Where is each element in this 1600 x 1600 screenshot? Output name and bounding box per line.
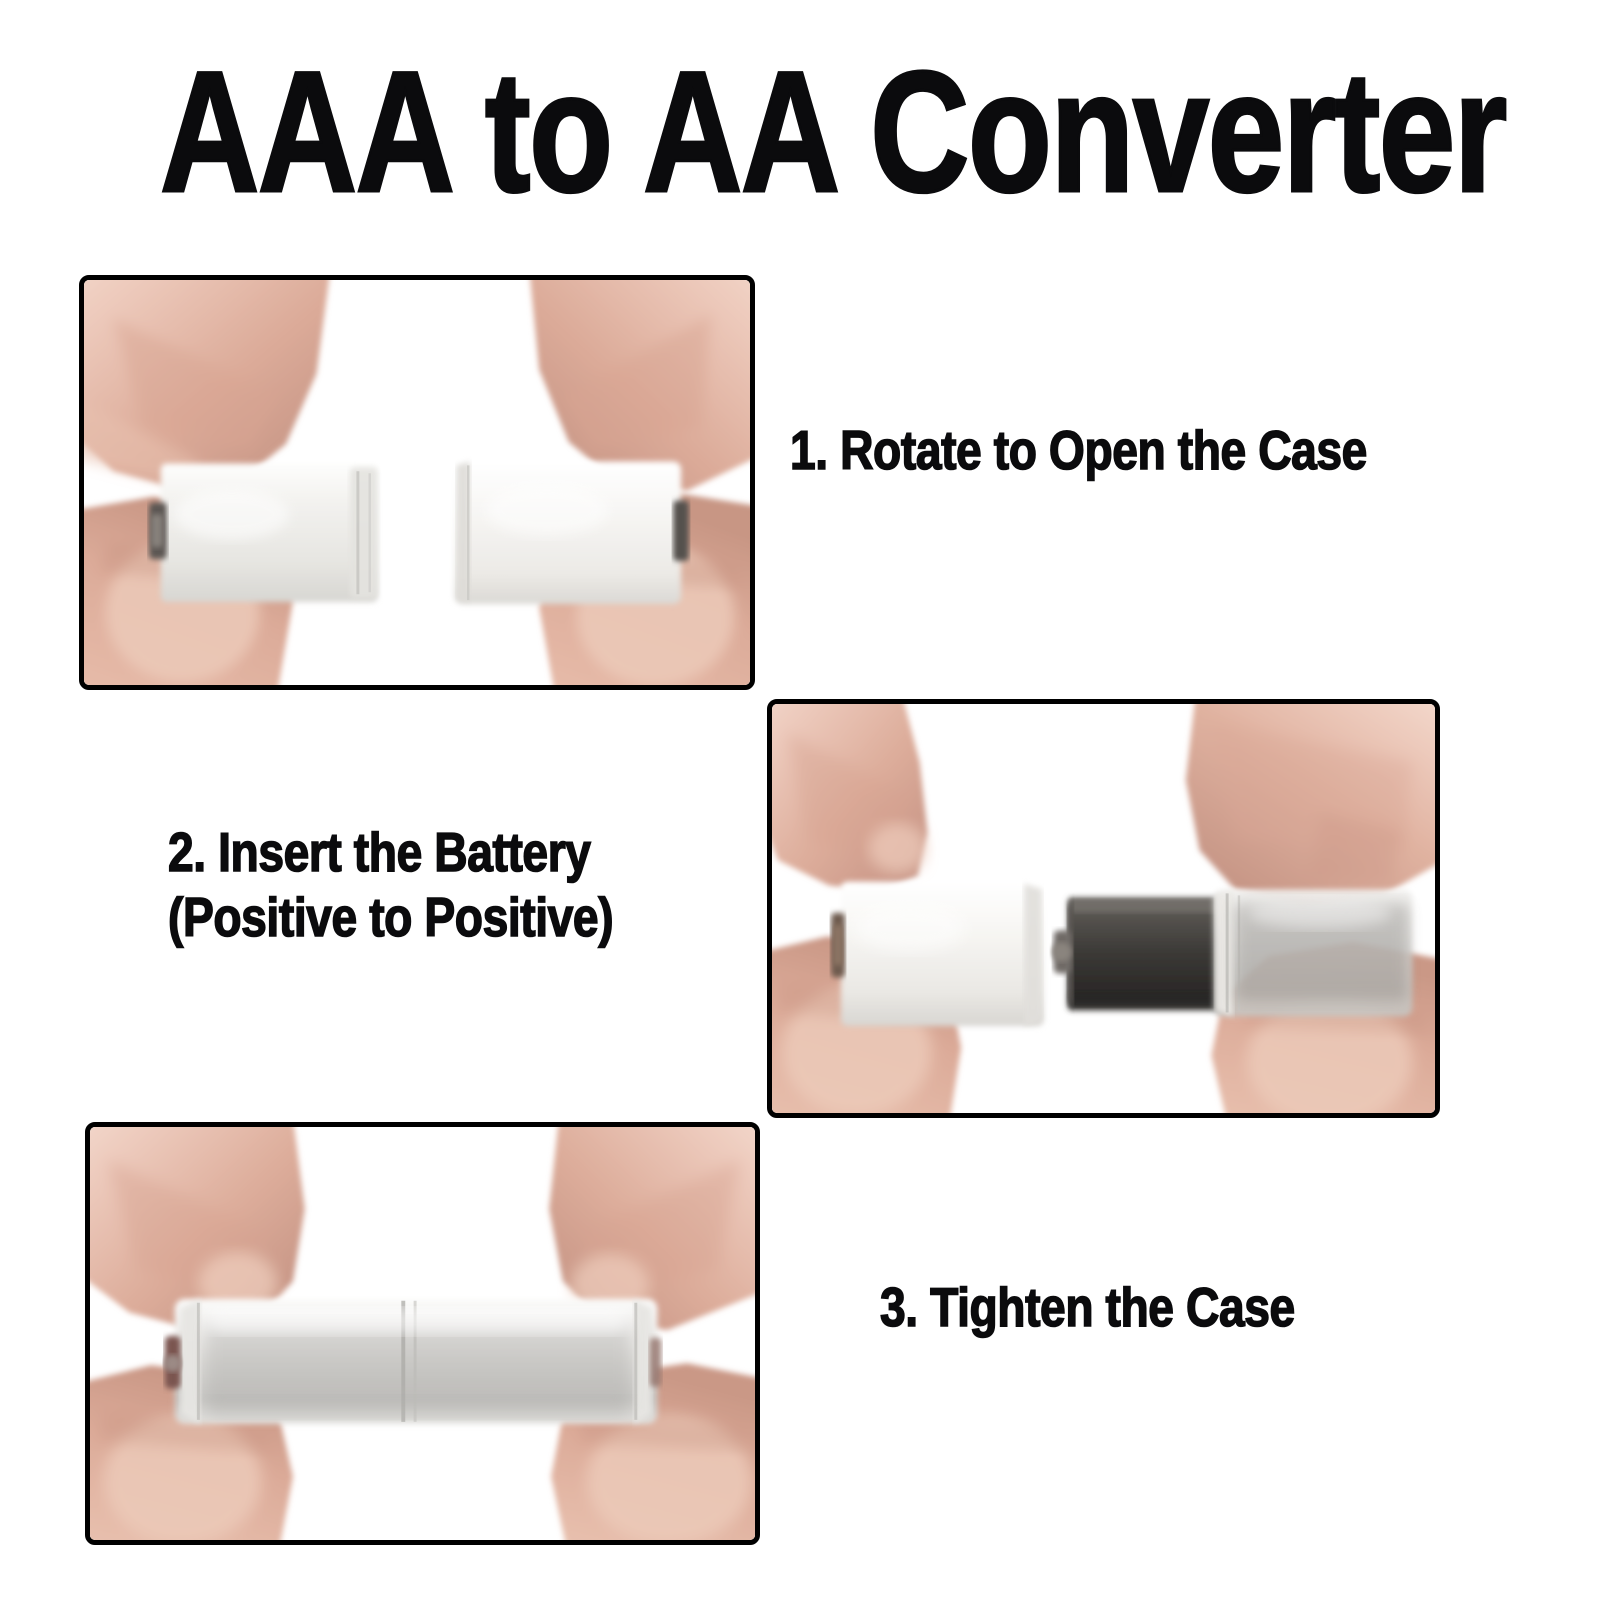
left-index-finger xyxy=(772,704,928,891)
case-body-half xyxy=(1213,889,1412,1016)
case-cap-half xyxy=(831,882,1044,1026)
assembled-converter xyxy=(164,1299,662,1424)
step-2-caption-line2: (Positive to Positive) xyxy=(168,885,613,950)
aaa-battery xyxy=(1052,897,1225,1010)
step-2-photo xyxy=(767,699,1440,1118)
case-body-half xyxy=(454,462,688,604)
step-3-photo-svg xyxy=(90,1127,755,1540)
step-1-caption: 1. Rotate to Open the Case xyxy=(790,418,1367,483)
step-2-photo-svg xyxy=(772,704,1435,1113)
step-1-photo xyxy=(79,275,755,690)
step-2-caption-line1: 2. Insert the Battery xyxy=(168,821,591,883)
step-1-photo-svg xyxy=(84,280,750,685)
infographic-page: AAA to AA Converter xyxy=(0,0,1600,1600)
case-cap-half xyxy=(149,463,378,602)
step-3-caption: 3. Tighten the Case xyxy=(880,1275,1295,1340)
case-end-contact xyxy=(673,501,689,562)
step-3-photo xyxy=(85,1122,760,1545)
page-title: AAA to AA Converter xyxy=(160,46,1440,218)
right-hand-index xyxy=(1186,704,1435,905)
step-2-caption: 2. Insert the Battery (Positive to Posit… xyxy=(168,820,613,950)
